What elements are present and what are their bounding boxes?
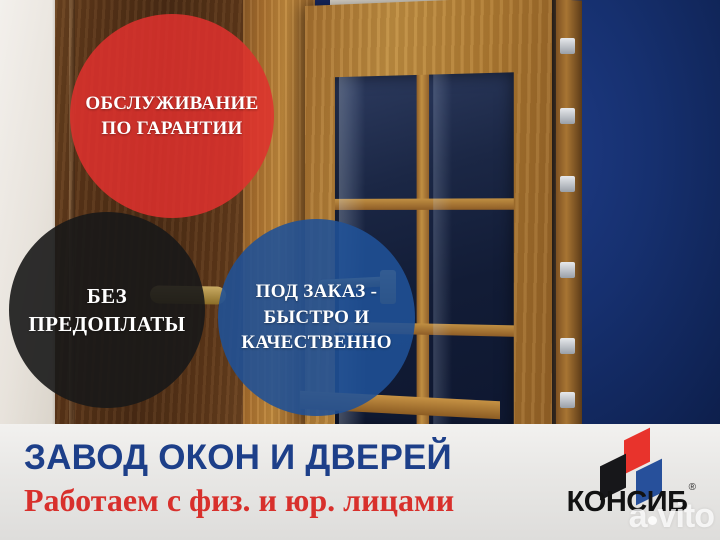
badge-warranty-line-2: ПО ГАРАНТИИ — [79, 116, 264, 141]
vertical-mullion — [417, 75, 429, 426]
door-hardware-edge — [556, 0, 582, 426]
badge-prepayment-line-1: БЕЗ — [23, 282, 192, 310]
lock-hardware-icon — [560, 262, 575, 278]
banner-text-block: ЗАВОД ОКОН И ДВЕРЕЙ Работаем с физ. и юр… — [24, 440, 454, 516]
company-logo: ® КОНСИБ — [552, 432, 702, 532]
advertisement-image: ОБСЛУЖИВАНИЕ ПО ГАРАНТИИ БЕЗ ПРЕДОПЛАТЫ … — [0, 0, 720, 540]
badge-prepayment-line-2: ПРЕДОПЛАТЫ — [23, 310, 192, 338]
badge-order-line-3: КАЧЕСТВЕННО — [235, 330, 398, 356]
lock-hardware-icon — [560, 108, 575, 124]
logo-rhombus-icon — [590, 432, 670, 490]
lock-hardware-icon — [560, 176, 575, 192]
badge-custom-order: ПОД ЗАКАЗ - БЫСТРО И КАЧЕСТВЕННО — [218, 219, 415, 416]
lock-hardware-icon — [560, 38, 575, 54]
badge-warranty: ОБСЛУЖИВАНИЕ ПО ГАРАНТИИ — [70, 14, 274, 218]
badge-order-line-2: БЫСТРО И — [235, 305, 398, 331]
banner-subtitle: Работаем с физ. и юр. лицами — [24, 484, 454, 516]
bottom-banner: ЗАВОД ОКОН И ДВЕРЕЙ Работаем с физ. и юр… — [0, 424, 720, 540]
lock-hardware-icon — [560, 392, 575, 408]
logo-wordmark: КОНСИБ — [552, 488, 702, 517]
banner-title: ЗАВОД ОКОН И ДВЕРЕЙ — [24, 440, 454, 475]
badge-order-line-1: ПОД ЗАКАЗ - — [235, 279, 398, 305]
badge-no-prepayment: БЕЗ ПРЕДОПЛАТЫ — [9, 212, 205, 408]
badge-warranty-line-1: ОБСЛУЖИВАНИЕ — [79, 91, 264, 116]
lock-hardware-icon — [560, 338, 575, 354]
glass-reflection-secondary — [433, 74, 452, 426]
